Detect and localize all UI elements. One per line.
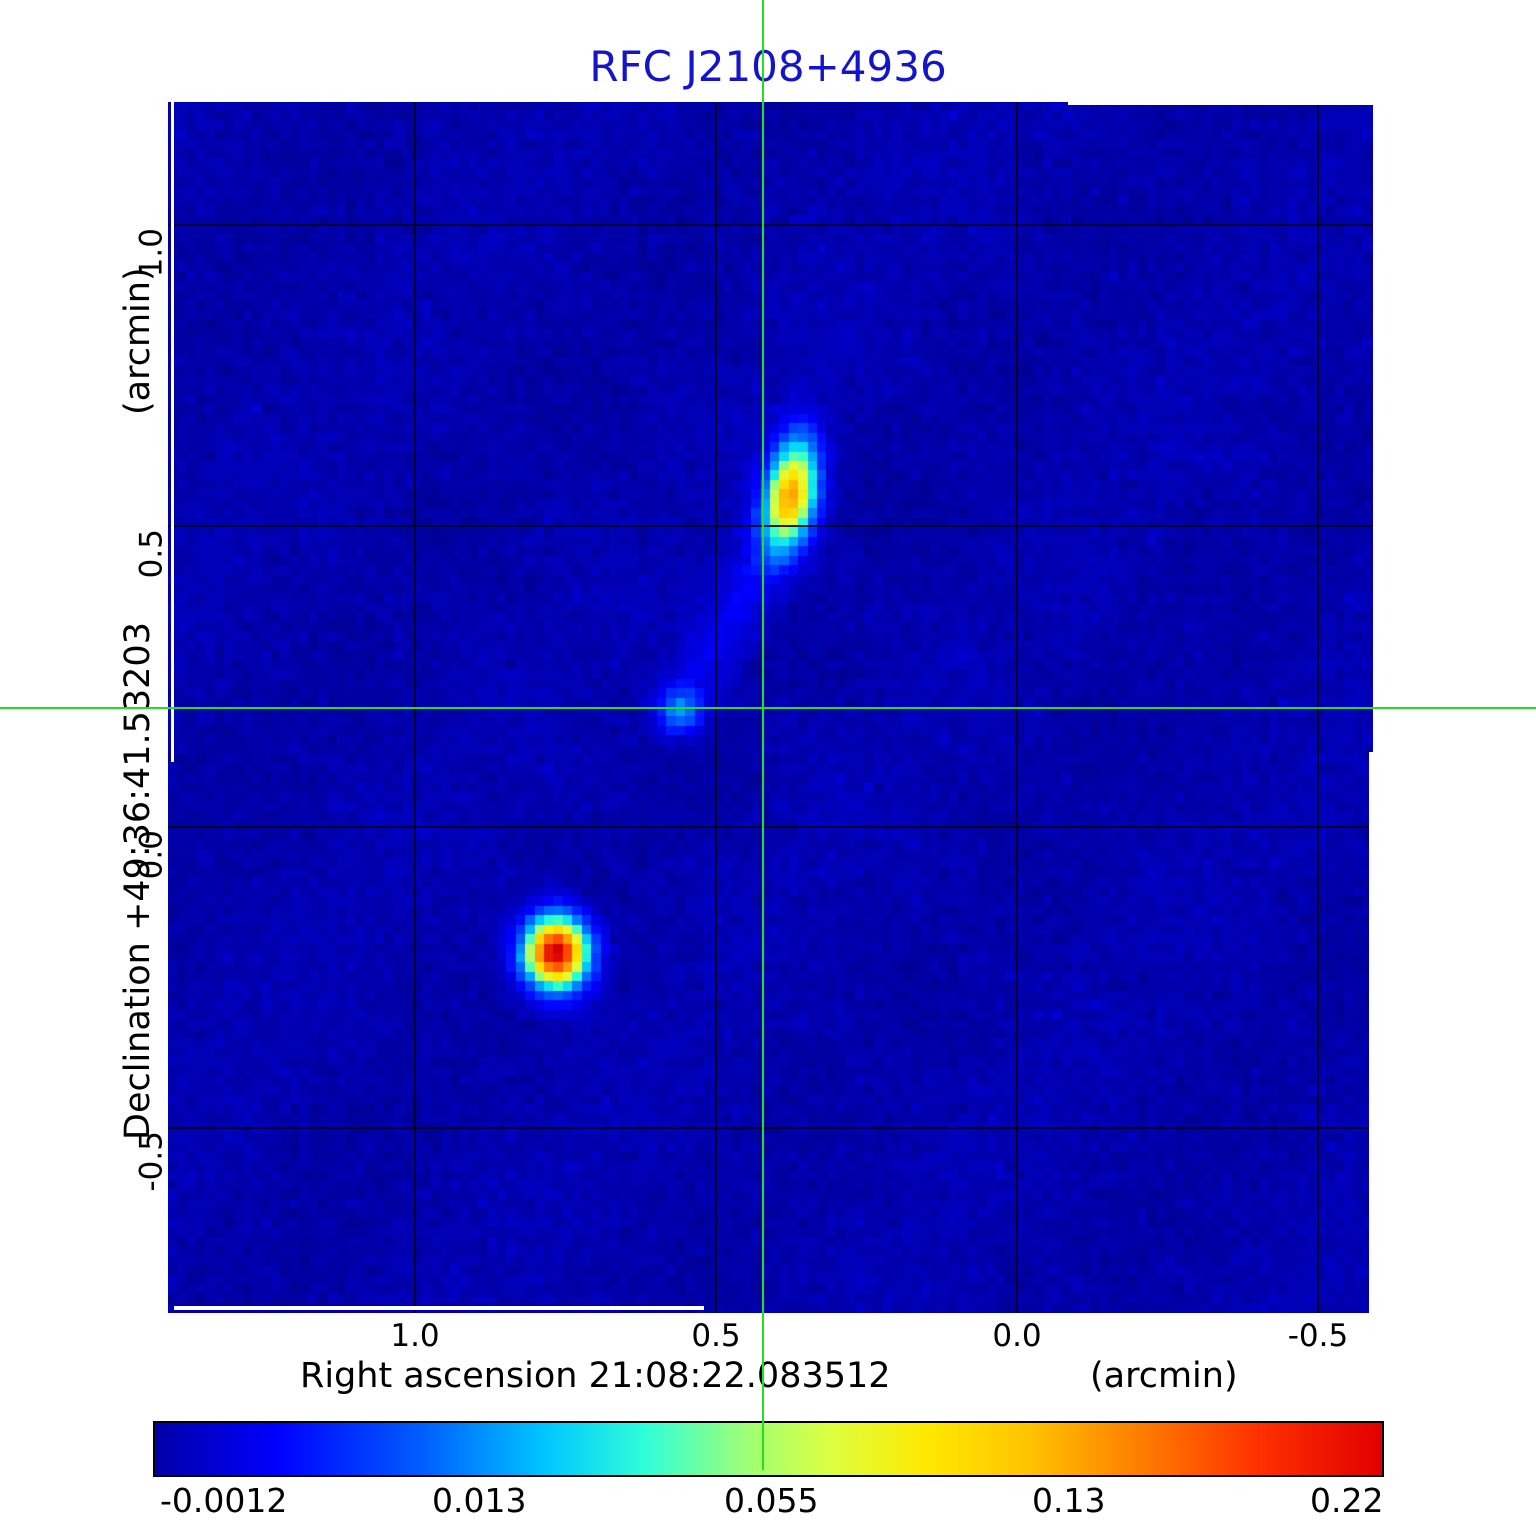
colorbar-tick-0: -0.0012 <box>160 1481 287 1520</box>
ytick-label-1: 0.5 <box>133 529 169 578</box>
gridline-y-0_0 <box>168 826 1373 828</box>
colorbar-gradient <box>153 1421 1384 1477</box>
panel-frame-bottom <box>174 1306 704 1310</box>
xtick-label-0: 1.0 <box>390 1318 439 1354</box>
panel-frame-left <box>171 102 174 762</box>
x-axis-label: Right ascension 21:08:22.083512 <box>300 1356 891 1396</box>
gridline-y-neg0_5 <box>168 1127 1373 1129</box>
y-axis-unit: (arcmin) <box>118 267 158 415</box>
colorbar-tick-1: 0.013 <box>432 1481 526 1520</box>
crosshair-horizontal <box>0 707 1536 709</box>
gridline-y-0_5 <box>168 525 1373 527</box>
panel-frame-right <box>1369 752 1373 1313</box>
crosshair-vertical <box>762 0 764 1470</box>
xtick-label-3: -0.5 <box>1288 1318 1349 1354</box>
y-axis-label: Declination +49:36:41.53203 <box>118 622 158 1140</box>
xtick-label-1: 0.5 <box>691 1318 740 1354</box>
panel-frame-top <box>1068 102 1373 105</box>
colorbar <box>153 1421 1384 1477</box>
colorbar-tick-2: 0.055 <box>724 1481 818 1520</box>
x-axis-unit: (arcmin) <box>1090 1356 1238 1396</box>
gridline-y-1_0 <box>168 224 1373 226</box>
colorbar-tick-3: 0.13 <box>1032 1481 1105 1520</box>
page-title: RFC J2108+4936 <box>0 42 1536 91</box>
colorbar-tick-4: 0.22 <box>1310 1481 1383 1520</box>
ytick-label-3: -0.5 <box>133 1131 169 1192</box>
xtick-label-2: 0.0 <box>992 1318 1041 1354</box>
